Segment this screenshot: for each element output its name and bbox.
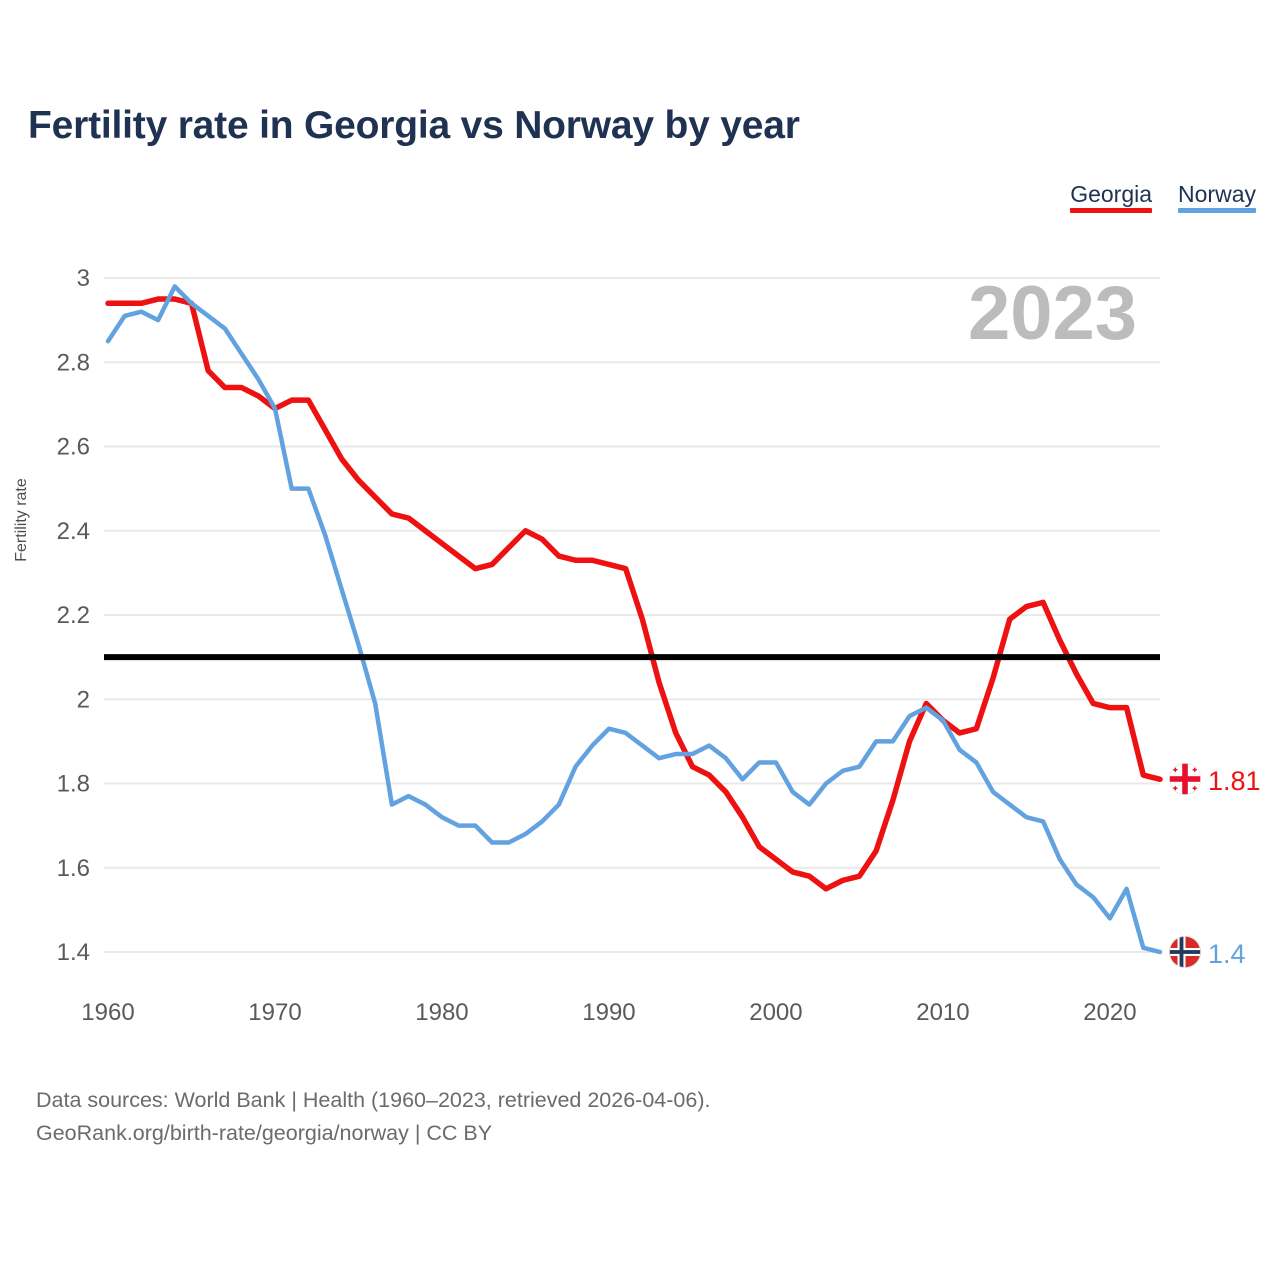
y-axis-title: Fertility rate [13,478,31,562]
y-tick-label: 1.6 [57,855,90,882]
georgia-flag-icon [1168,762,1202,801]
y-tick-label: 2.4 [57,518,90,545]
x-tick-label: 2000 [749,999,802,1026]
y-tick-label: 2.6 [57,434,90,461]
chart-page: Fertility rate in Georgia vs Norway by y… [0,0,1280,1280]
x-tick-label: 2010 [916,999,969,1026]
y-tick-label: 2.8 [57,349,90,376]
end-label-georgia: 1.81 [1168,762,1261,801]
end-value-norway: 1.4 [1208,941,1246,968]
x-tick-label: 1970 [248,999,301,1026]
footer-line-sources: Data sources: World Bank | Health (1960–… [36,1084,710,1117]
line-chart-svg: 1.41.61.822.22.42.62.8319601970198019902… [0,0,1280,1060]
footer-line-attribution[interactable]: GeoRank.org/birth-rate/georgia/norway | … [36,1117,710,1150]
norway-flag-icon [1168,935,1202,974]
series-line-norway [108,286,1160,952]
y-tick-label: 3 [77,265,90,292]
end-label-norway: 1.4 [1168,935,1246,974]
x-tick-label: 2020 [1083,999,1136,1026]
y-tick-label: 2 [77,686,90,713]
y-tick-label: 1.8 [57,771,90,798]
x-tick-label: 1960 [81,999,134,1026]
x-tick-label: 1980 [415,999,468,1026]
footer: Data sources: World Bank | Health (1960–… [36,1084,710,1151]
x-tick-label: 1990 [582,999,635,1026]
y-tick-label: 2.2 [57,602,90,629]
y-tick-label: 1.4 [57,939,90,966]
plot-area: Fertility rate 1.41.61.822.22.42.62.8319… [0,0,1280,1060]
end-value-georgia: 1.81 [1208,768,1261,795]
